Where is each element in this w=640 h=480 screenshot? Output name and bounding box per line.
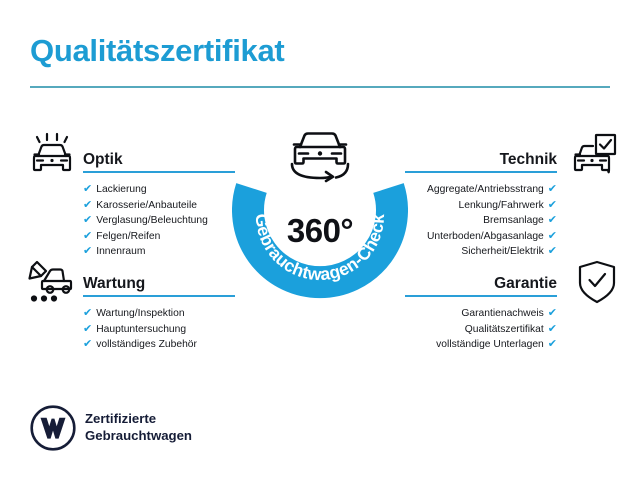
check-icon: ✔: [83, 306, 92, 322]
list-item: ✔Karosserie/Anbauteile: [83, 198, 235, 214]
list-item-label: Hauptuntersuchung: [96, 324, 186, 335]
list-item: Lenkung/Fahrwerk✔: [405, 198, 557, 214]
section-optik-divider: [83, 171, 235, 173]
section-garantie-header: Garantie: [405, 267, 557, 297]
list-item-label: Wartung/Inspektion: [96, 308, 184, 319]
list-item: Qualitätszertifikat✔: [405, 322, 557, 338]
list-item-label: Verglasung/Beleuchtung: [96, 215, 208, 226]
list-item: Garantienachweis✔: [405, 306, 557, 322]
list-item-label: Qualitätszertifikat: [465, 324, 544, 335]
section-wartung-header: Wartung: [83, 267, 235, 297]
list-item: ✔Lackierung: [83, 182, 235, 198]
shield-check-icon: [571, 259, 623, 305]
section-wartung-title: Wartung: [83, 275, 145, 293]
section-technik-divider: [405, 171, 557, 173]
check-icon: ✔: [548, 337, 557, 353]
list-item: ✔Hauptuntersuchung: [83, 322, 235, 338]
list-item-label: Sicherheit/Elektrik: [461, 246, 543, 257]
check-icon: ✔: [548, 244, 557, 260]
section-technik-header: Technik: [405, 143, 557, 173]
vw-logo-icon: [30, 405, 76, 451]
list-item-label: vollständiges Zubehör: [96, 339, 197, 350]
check-icon: ✔: [83, 198, 92, 214]
check-icon: ✔: [548, 198, 557, 214]
car-shine-icon: [26, 132, 78, 178]
check-icon: ✔: [83, 244, 92, 260]
title-divider: [30, 86, 610, 88]
list-item-label: Lackierung: [96, 184, 146, 195]
list-item: Unterboden/Abgasanlage✔: [405, 229, 557, 245]
section-garantie-list: Garantienachweis✔ Qualitätszertifikat✔ v…: [405, 306, 557, 353]
list-item-label: Karosserie/Anbauteile: [96, 200, 197, 211]
car-rotate-icon: [279, 124, 361, 190]
check-icon: ✔: [83, 337, 92, 353]
list-item: ✔vollständiges Zubehör: [83, 337, 235, 353]
list-item: vollständige Unterlagen✔: [405, 337, 557, 353]
section-optik: Optik ✔Lackierung ✔Karosserie/Anbauteile…: [83, 143, 235, 260]
check-icon: ✔: [548, 182, 557, 198]
section-wartung: Wartung ✔Wartung/Inspektion ✔Hauptunters…: [83, 267, 235, 353]
check-icon: ✔: [548, 229, 557, 245]
footer-text: Zertifizierte Gebrauchtwagen: [85, 411, 192, 444]
list-item-label: vollständige Unterlagen: [436, 339, 544, 350]
list-item: Bremsanlage✔: [405, 213, 557, 229]
badge-center-label: 360°: [232, 212, 408, 250]
list-item-label: Unterboden/Abgasanlage: [427, 231, 544, 242]
section-technik-title: Technik: [500, 151, 557, 169]
list-item-label: Felgen/Reifen: [96, 231, 160, 242]
list-item-label: Lenkung/Fahrwerk: [459, 200, 544, 211]
check-icon: ✔: [83, 213, 92, 229]
check-icon: ✔: [83, 322, 92, 338]
section-technik-list: Aggregate/Antriebsstrang✔ Lenkung/Fahrwe…: [405, 182, 557, 260]
list-item-label: Aggregate/Antriebsstrang: [427, 184, 544, 195]
section-wartung-divider: [83, 295, 235, 297]
list-item: ✔Verglasung/Beleuchtung: [83, 213, 235, 229]
section-wartung-list: ✔Wartung/Inspektion ✔Hauptuntersuchung ✔…: [83, 306, 235, 353]
list-item-label: Innenraum: [96, 246, 145, 257]
check-icon: ✔: [548, 306, 557, 322]
list-item: Aggregate/Antriebsstrang✔: [405, 182, 557, 198]
list-item: ✔Innenraum: [83, 244, 235, 260]
section-optik-list: ✔Lackierung ✔Karosserie/Anbauteile ✔Verg…: [83, 182, 235, 260]
360-check-badge: Gebrauchtwagen-Check 360°: [232, 128, 408, 304]
footer-logo: Zertifizierte Gebrauchtwagen: [30, 405, 240, 455]
section-garantie-divider: [405, 295, 557, 297]
list-item-label: Bremsanlage: [483, 215, 544, 226]
page-title: Qualitätszertifikat: [30, 33, 284, 69]
footer-line-1: Zertifizierte: [85, 411, 192, 428]
car-checkbox-icon: [566, 132, 618, 178]
footer-line-2: Gebrauchtwagen: [85, 428, 192, 445]
list-item: Sicherheit/Elektrik✔: [405, 244, 557, 260]
list-item-label: Garantienachweis: [461, 308, 543, 319]
section-optik-title: Optik: [83, 151, 123, 169]
list-item: ✔Felgen/Reifen: [83, 229, 235, 245]
list-item: ✔Wartung/Inspektion: [83, 306, 235, 322]
section-optik-header: Optik: [83, 143, 235, 173]
check-icon: ✔: [83, 182, 92, 198]
section-garantie-title: Garantie: [494, 275, 557, 293]
check-icon: ✔: [548, 322, 557, 338]
section-technik: Technik Aggregate/Antriebsstrang✔ Lenkun…: [405, 143, 557, 260]
section-garantie: Garantie Garantienachweis✔ Qualitätszert…: [405, 267, 557, 353]
car-service-pen-icon: [26, 259, 78, 305]
certificate-page: Qualitätszertifikat Optik: [0, 0, 640, 480]
check-icon: ✔: [548, 213, 557, 229]
check-icon: ✔: [83, 229, 92, 245]
